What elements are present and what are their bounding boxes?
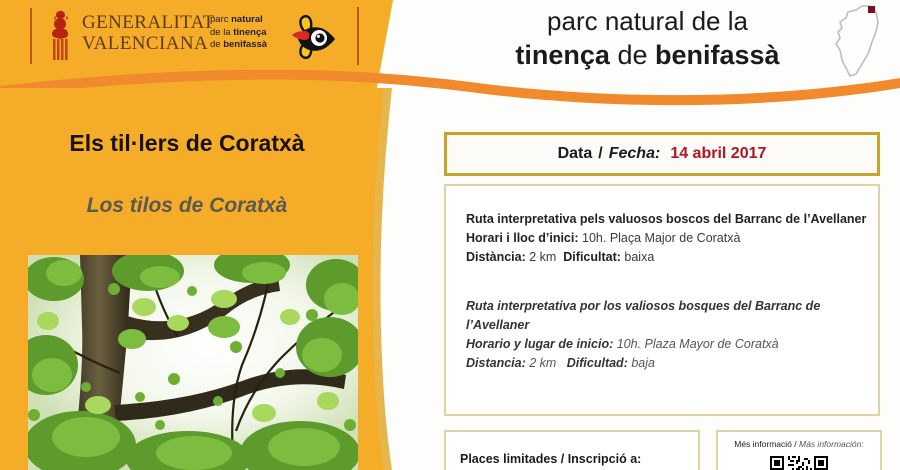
activity-title-ca: Els til·lers de Coratxà <box>0 130 374 157</box>
date-label-ca: Data <box>558 145 593 163</box>
header-divider-bar-right <box>357 7 359 65</box>
route-title-es: Ruta interpretativa por los valiosos bos… <box>466 299 820 332</box>
park-title-line-1: parc natural de la <box>470 4 825 38</box>
generalitat-crest-icon <box>46 10 78 62</box>
park-logo-line-1: parc natural <box>210 14 267 27</box>
date-label-es: Fecha: <box>609 145 661 163</box>
activity-photo <box>28 255 358 470</box>
park-mascot-icon <box>281 13 339 61</box>
park-logo-line-2: de la tinença <box>210 27 267 40</box>
poster-canvas: GENERALITAT VALENCIANA parc natural de l… <box>0 0 900 470</box>
route-info-ca: Ruta interpretativa pels valuosos boscos… <box>466 210 878 267</box>
date-value: 14 abril 2017 <box>670 145 766 163</box>
date-banner: Data / Fecha: 14 abril 2017 <box>444 132 880 176</box>
registration-box: Places limitades / Inscripció a: <box>444 430 700 470</box>
route-distance-difficulty-ca: Distància: 2 km Dificultat: baixa <box>466 248 878 267</box>
more-info-box: Més informació / Más información: <box>716 430 882 470</box>
registration-line-1: Places limitades / Inscripció a: <box>460 450 698 469</box>
route-schedule-es: Horario y lugar de inicio: 10h. Plaza Ma… <box>466 335 878 354</box>
route-title-ca: Ruta interpretativa pels valuosos boscos… <box>466 212 866 226</box>
activity-title-es: Los tilos de Coratxà <box>0 194 374 218</box>
park-logo-text: parc natural de la tinença de benifassà <box>210 14 267 52</box>
header-divider-bar-left <box>30 8 32 64</box>
institution-line-2: VALENCIANA <box>82 33 215 54</box>
date-separator: / <box>598 145 602 163</box>
route-schedule-ca: Horari i lloc d’inici: 10h. Plaça Major … <box>466 229 878 248</box>
institution-line-1: GENERALITAT <box>82 12 215 33</box>
route-distance-difficulty-es: Distancia: 2 km Dificultad: baja <box>466 354 878 373</box>
institution-name: GENERALITAT VALENCIANA <box>82 12 215 54</box>
qr-code-icon[interactable] <box>767 453 831 470</box>
more-info-label: Més informació / Más información: <box>718 438 880 450</box>
park-logo-line-3: de benifassà <box>210 39 267 52</box>
route-info-box: Ruta interpretativa pels valuosos boscos… <box>444 184 880 416</box>
route-info-es: Ruta interpretativa por los valiosos bos… <box>466 297 878 373</box>
left-panel: Els til·lers de Coratxà Los tilos de Cor… <box>0 88 430 470</box>
